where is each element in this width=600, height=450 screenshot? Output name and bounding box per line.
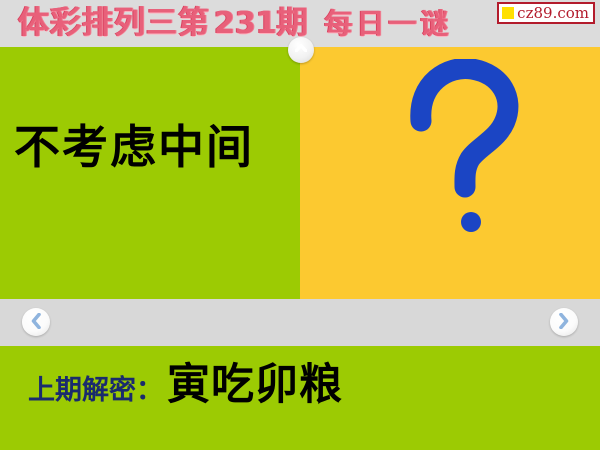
answer-label: 上期解密： (28, 368, 163, 407)
question-panel (300, 47, 600, 299)
issue-number: 231 (214, 6, 277, 41)
answer-value: 寅吃卯粮 (167, 350, 343, 412)
riddle-panel: 不考虑中间 （打一成语） (0, 47, 300, 299)
answer-row: 上期解密： 寅吃卯粮 (28, 350, 343, 412)
daily-label: 每日一谜 (324, 7, 452, 40)
panel-area: 不考虑中间 （打一成语） (0, 47, 600, 299)
collapse-toggle-button[interactable] (288, 37, 314, 63)
logo-text: cz89.com (517, 6, 589, 21)
logo-square-icon (502, 7, 514, 19)
riddle-text: 不考虑中间 (14, 119, 290, 175)
previous-button[interactable] (22, 308, 50, 336)
question-mark-icon (404, 59, 524, 244)
navigation-bar (0, 299, 600, 346)
title-prefix: 体彩排列三第 (18, 5, 210, 41)
chevron-left-icon (31, 313, 41, 329)
issue-suffix: 期 (277, 5, 309, 41)
next-button[interactable] (550, 308, 578, 336)
puzzle-page: 体彩排列三第231期 每日一谜 cz89.com 不考虑中间 （打一成语） (0, 0, 600, 450)
chevron-right-icon (559, 313, 569, 329)
previous-answer-bar: 上期解密： 寅吃卯粮 (0, 346, 600, 450)
page-title: 体彩排列三第231期 每日一谜 (18, 2, 538, 46)
site-logo[interactable]: cz89.com (497, 2, 595, 24)
